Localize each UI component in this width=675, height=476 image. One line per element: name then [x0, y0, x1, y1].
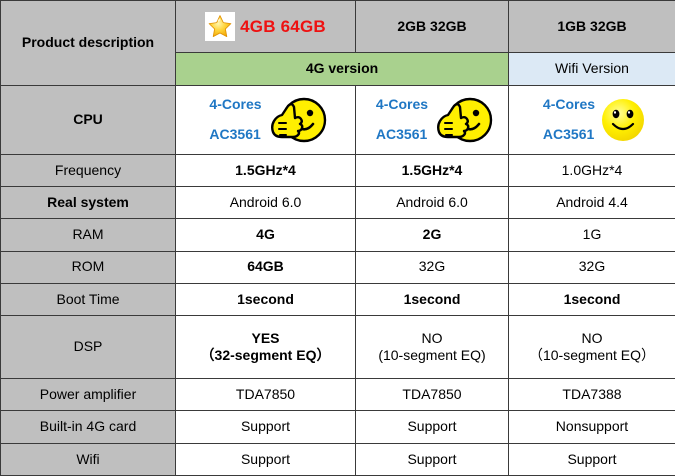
- cpu-chip-2: AC3561: [376, 126, 428, 144]
- table-row-cpu: CPU 4-Cores AC3561: [1, 85, 675, 154]
- cell-real-system-2: Android 6.0: [356, 186, 509, 218]
- column-header-model-1: 4GB 64GB: [176, 1, 356, 53]
- cell-ram-3: 1G: [509, 219, 675, 251]
- cell-cpu-3: 4-Cores AC3561: [509, 85, 675, 154]
- product-comparison-table: Product description: [0, 0, 675, 476]
- cell-real-system-1: Android 6.0: [176, 186, 356, 218]
- cpu-chip-1: AC3561: [209, 126, 261, 144]
- cell-boot-time-1: 1second: [176, 283, 356, 315]
- cell-frequency-1: 1.5GHz*4: [176, 154, 356, 186]
- table-row-builtin-4g-card: Built-in 4G card Support Support Nonsupp…: [1, 411, 675, 443]
- cell-power-amplifier-3: TDA7388: [509, 379, 675, 411]
- cell-rom-3: 32G: [509, 251, 675, 283]
- cell-power-amplifier-1: TDA7850: [176, 379, 356, 411]
- table-row-dsp: DSP YES （32-segment EQ） NO (10-segment E…: [1, 316, 675, 379]
- row-label-cpu: CPU: [1, 85, 176, 154]
- band-4g-version: 4G version: [176, 53, 509, 85]
- row-label-dsp: DSP: [1, 316, 176, 379]
- dsp-answer-2: NO: [358, 330, 506, 348]
- cell-boot-time-3: 1second: [509, 283, 675, 315]
- row-label-real-system: Real system: [1, 186, 176, 218]
- cell-ram-1: 4G: [176, 219, 356, 251]
- cell-dsp-1: YES （32-segment EQ）: [176, 316, 356, 379]
- cell-rom-1: 64GB: [176, 251, 356, 283]
- cell-power-amplifier-2: TDA7850: [356, 379, 509, 411]
- cell-cpu-1: 4-Cores AC3561: [176, 85, 356, 154]
- row-label-power-amplifier: Power amplifier: [1, 379, 176, 411]
- thumbs-up-smiley-icon: [266, 94, 328, 146]
- table-row-wifi: Wifi Support Support Support: [1, 443, 675, 475]
- cell-wifi-3: Support: [509, 443, 675, 475]
- dsp-answer-1: YES: [178, 330, 353, 348]
- table-row-real-system: Real system Android 6.0 Android 6.0 Andr…: [1, 186, 675, 218]
- dsp-detail-2: (10-segment EQ): [358, 347, 506, 365]
- cell-dsp-3: NO （10-segment EQ）: [509, 316, 675, 379]
- row-label-wifi: Wifi: [1, 443, 176, 475]
- cell-builtin-4g-card-3: Nonsupport: [509, 411, 675, 443]
- dsp-answer-3: NO: [511, 330, 673, 348]
- smiley-face-icon: [599, 96, 647, 144]
- dsp-detail-3: （10-segment EQ）: [511, 347, 673, 365]
- cell-rom-2: 32G: [356, 251, 509, 283]
- cpu-cores-1: 4-Cores: [209, 96, 261, 114]
- cell-wifi-1: Support: [176, 443, 356, 475]
- cell-real-system-3: Android 4.4: [509, 186, 675, 218]
- star-icon: [205, 12, 235, 41]
- row-label-frequency: Frequency: [1, 154, 176, 186]
- cell-dsp-2: NO (10-segment EQ): [356, 316, 509, 379]
- thumbs-up-smiley-icon: [432, 94, 494, 146]
- row-label-builtin-4g-card: Built-in 4G card: [1, 411, 176, 443]
- cpu-chip-3: AC3561: [543, 126, 595, 144]
- dsp-detail-1: （32-segment EQ）: [178, 347, 353, 365]
- column-header-model-3: 1GB 32GB: [509, 1, 675, 53]
- table-row-power-amplifier: Power amplifier TDA7850 TDA7850 TDA7388: [1, 379, 675, 411]
- table-row-frequency: Frequency 1.5GHz*4 1.5GHz*4 1.0GHz*4: [1, 154, 675, 186]
- row-label-rom: ROM: [1, 251, 176, 283]
- cell-cpu-2: 4-Cores AC3561: [356, 85, 509, 154]
- row-label-boot-time: Boot Time: [1, 283, 176, 315]
- product-description-label: Product description: [1, 1, 176, 86]
- column-header-label-1: 4GB 64GB: [240, 16, 326, 37]
- cell-frequency-3: 1.0GHz*4: [509, 154, 675, 186]
- column-header-model-2: 2GB 32GB: [356, 1, 509, 53]
- table-header-row-models: Product description: [1, 1, 675, 53]
- table-row-ram: RAM 4G 2G 1G: [1, 219, 675, 251]
- table-row-boot-time: Boot Time 1second 1second 1second: [1, 283, 675, 315]
- cpu-cores-3: 4-Cores: [543, 96, 595, 114]
- cell-wifi-2: Support: [356, 443, 509, 475]
- row-label-ram: RAM: [1, 219, 176, 251]
- cell-boot-time-2: 1second: [356, 283, 509, 315]
- cell-builtin-4g-card-1: Support: [176, 411, 356, 443]
- band-wifi-version: Wifi Version: [509, 53, 675, 85]
- cell-frequency-2: 1.5GHz*4: [356, 154, 509, 186]
- cpu-cores-2: 4-Cores: [376, 96, 428, 114]
- table-row-rom: ROM 64GB 32G 32G: [1, 251, 675, 283]
- cell-ram-2: 2G: [356, 219, 509, 251]
- cell-builtin-4g-card-2: Support: [356, 411, 509, 443]
